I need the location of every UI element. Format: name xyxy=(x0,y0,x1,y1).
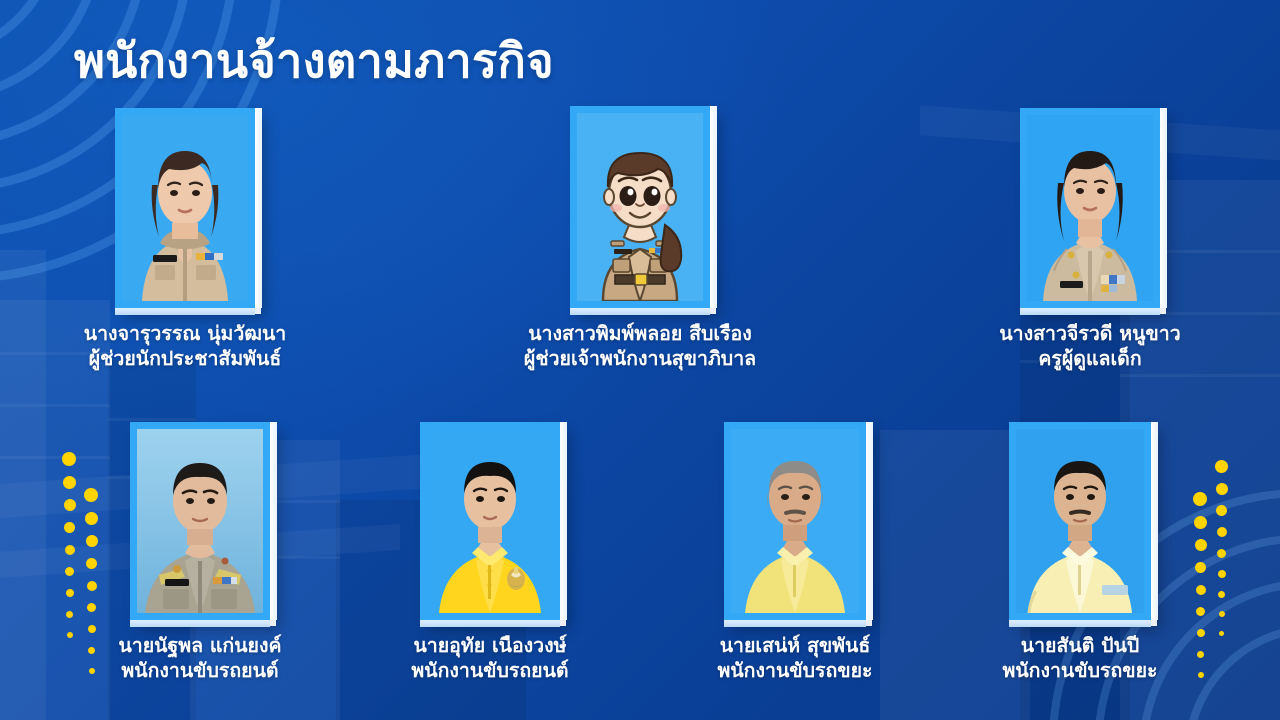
person-role: ผู้ช่วยนักประชาสัมพันธ์ xyxy=(35,346,335,371)
frame-edge-bottom xyxy=(115,308,255,315)
person-caption: นางสาวจีรวดี หนูขาว ครูผู้ดูแลเด็ก xyxy=(940,321,1240,372)
photo-inner xyxy=(577,113,703,301)
person-name: นายสันติ ปันปี xyxy=(1021,634,1139,657)
person-card[interactable]: นายเสน่ห์ สุขพันธ์ พนักงานขับรถขยะ xyxy=(645,422,945,684)
photo-inner xyxy=(137,429,263,613)
concentric-arc xyxy=(0,0,58,58)
page-title: พนักงานจ้างตามภารกิจ xyxy=(74,34,554,89)
person-name: นางสาวจีรวดี หนูขาว xyxy=(999,322,1180,345)
frame-edge-bottom xyxy=(130,620,270,627)
building-window-line xyxy=(1120,374,1280,377)
photo-frame xyxy=(115,108,255,308)
frame-edge-bottom xyxy=(1009,620,1151,627)
frame-edge-right xyxy=(710,106,717,308)
photo-frame xyxy=(420,422,560,620)
photo-inner xyxy=(427,429,553,613)
portrait-image-male-yellow-polo xyxy=(1016,429,1144,613)
person-name: นายเสน่ห์ สุขพันธ์ xyxy=(720,634,871,657)
person-name: นายอุทัย เนืองวงษ์ xyxy=(413,634,566,657)
frame-edge-right xyxy=(560,422,567,620)
person-caption: นางจารุวรรณ นุ่มวัฒนา ผู้ช่วยนักประชาสัม… xyxy=(35,321,335,372)
person-card[interactable]: นางจารุวรรณ นุ่มวัฒนา ผู้ช่วยนักประชาสัม… xyxy=(35,108,335,372)
person-card[interactable]: นายอุทัย เนืองวงษ์ พนักงานขับรถยนต์ xyxy=(340,422,640,684)
person-role: พนักงานขับรถขยะ xyxy=(930,658,1230,683)
person-caption: นางสาวพิมพ์พลอย สืบเรือง ผู้ช่วยเจ้าพนัก… xyxy=(490,321,790,372)
frame-edge-bottom xyxy=(1020,308,1160,315)
person-caption: นายอุทัย เนืองวงษ์ พนักงานขับรถยนต์ xyxy=(340,633,640,684)
portrait-image-female-uniform xyxy=(122,115,248,301)
portrait-image-male-uniform xyxy=(137,429,263,613)
photo-inner xyxy=(731,429,859,613)
building-window-line xyxy=(0,404,110,407)
slide-canvas: พนักงานจ้างตามภารกิจ xyxy=(0,0,1280,720)
person-role: ครูผู้ดูแลเด็ก xyxy=(940,346,1240,371)
photo-frame xyxy=(1009,422,1151,620)
portrait-image-male-yellow-polo xyxy=(731,429,859,613)
frame-edge-right xyxy=(1160,108,1167,308)
frame-edge-right xyxy=(270,422,277,620)
frame-edge-right xyxy=(255,108,262,308)
person-name: นางจารุวรรณ นุ่มวัฒนา xyxy=(84,322,286,345)
person-caption: นายเสน่ห์ สุขพันธ์ พนักงานขับรถขยะ xyxy=(645,633,945,684)
photo-inner xyxy=(122,115,248,301)
person-card[interactable]: นายสันติ ปันปี พนักงานขับรถขยะ xyxy=(930,422,1230,684)
person-name: นางสาวพิมพ์พลอย สืบเรือง xyxy=(528,322,752,345)
photo-frame xyxy=(724,422,866,620)
person-name: นายนัฐพล แก่นยงค์ xyxy=(118,634,281,657)
photo-frame xyxy=(1020,108,1160,308)
portrait-image-cartoon-female-uniform xyxy=(577,113,703,301)
photo-frame xyxy=(570,106,710,308)
frame-edge-bottom xyxy=(724,620,866,627)
photo-inner xyxy=(1016,429,1144,613)
person-role: พนักงานขับรถยนต์ xyxy=(50,658,350,683)
frame-edge-right xyxy=(866,422,873,620)
portrait-image-female-uniform xyxy=(1027,115,1153,301)
person-role: พนักงานขับรถยนต์ xyxy=(340,658,640,683)
person-caption: นายสันติ ปันปี พนักงานขับรถขยะ xyxy=(930,633,1230,684)
person-card[interactable]: นายนัฐพล แก่นยงค์ พนักงานขับรถยนต์ xyxy=(50,422,350,684)
person-role: ผู้ช่วยเจ้าพนักงานสุขาภิบาล xyxy=(490,346,790,371)
portrait-image-male-yellow-polo xyxy=(427,429,553,613)
person-caption: นายนัฐพล แก่นยงค์ พนักงานขับรถยนต์ xyxy=(50,633,350,684)
frame-edge-bottom xyxy=(570,308,710,315)
person-role: พนักงานขับรถขยะ xyxy=(645,658,945,683)
building-window-line xyxy=(108,418,196,421)
person-card[interactable]: นางสาวจีรวดี หนูขาว ครูผู้ดูแลเด็ก xyxy=(940,108,1240,372)
frame-edge-right xyxy=(1151,422,1158,620)
photo-inner xyxy=(1027,115,1153,301)
photo-frame xyxy=(130,422,270,620)
person-card[interactable]: นางสาวพิมพ์พลอย สืบเรือง ผู้ช่วยเจ้าพนัก… xyxy=(490,106,790,372)
frame-edge-bottom xyxy=(420,620,560,627)
